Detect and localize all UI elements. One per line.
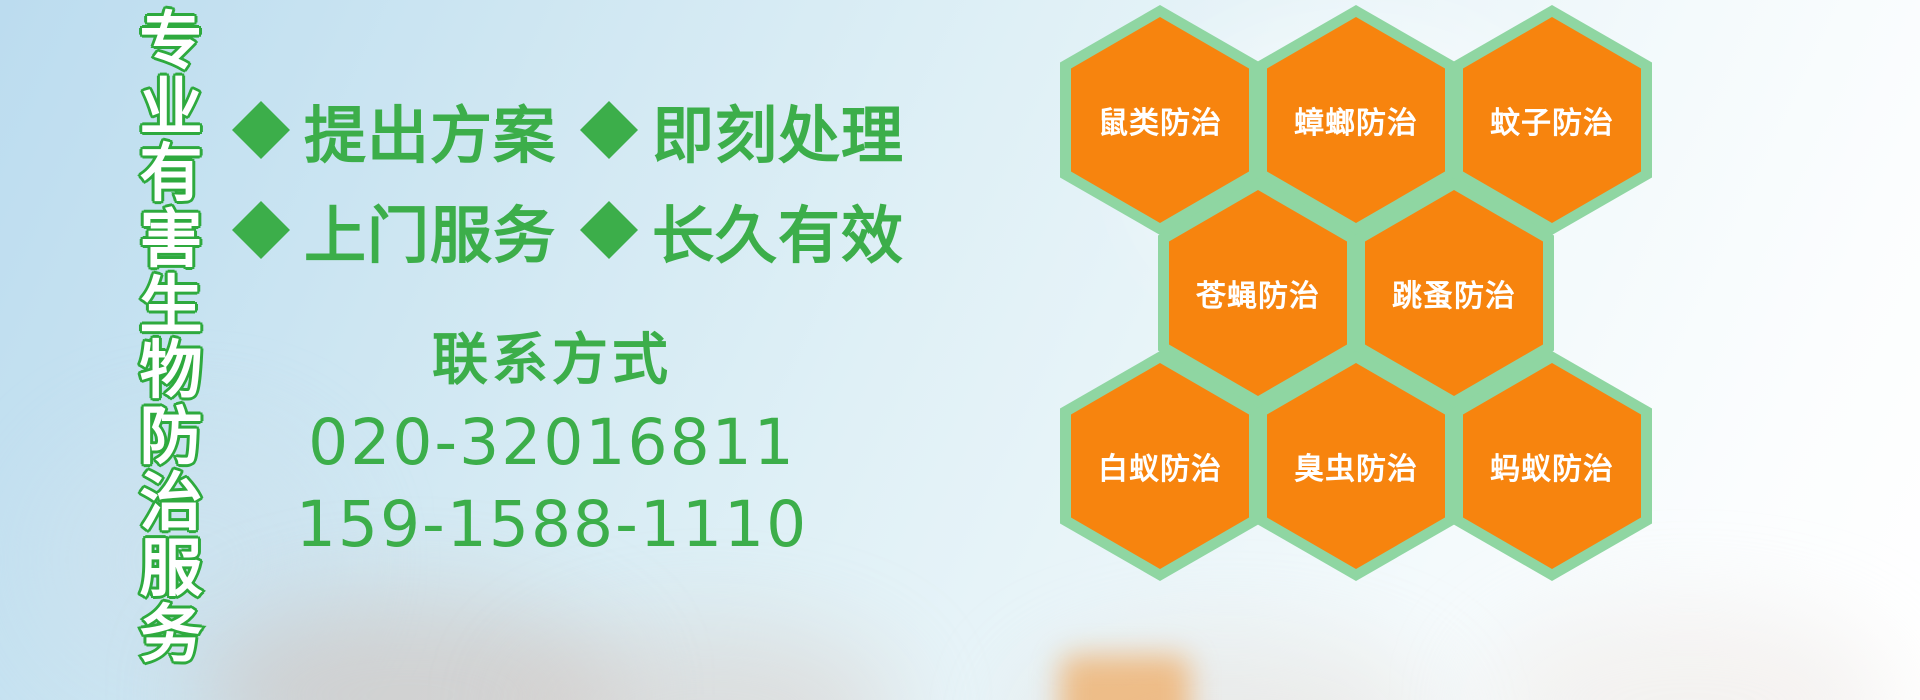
- service-label: 跳蚤防治: [1392, 271, 1516, 315]
- service-hex-termite[interactable]: 白蚁防治: [1060, 351, 1260, 581]
- vertical-headline-char: 防: [140, 405, 203, 470]
- vertical-headline-char: 务: [140, 603, 203, 668]
- service-hex-ant[interactable]: 蚂蚁防治: [1452, 351, 1652, 581]
- vertical-headline-char: 服: [140, 537, 203, 602]
- feature-label: 长久有效: [652, 185, 904, 275]
- vertical-headline-char: 专: [140, 10, 203, 75]
- feature-item: 上门服务: [232, 185, 556, 275]
- vertical-headline-char: 有: [140, 142, 203, 207]
- feature-row: 提出方案 即刻处理: [232, 80, 872, 180]
- diamond-icon: [232, 172, 290, 230]
- vertical-headline-char: 治: [140, 471, 203, 536]
- feature-item: 长久有效: [580, 185, 904, 275]
- service-label: 苍蝇防治: [1196, 271, 1320, 315]
- diamond-icon: [580, 72, 638, 130]
- background-blur-blob: [200, 600, 620, 700]
- service-label: 蟑螂防治: [1294, 98, 1418, 142]
- feature-list: 提出方案 即刻处理 上门服务 长久有效: [232, 80, 872, 280]
- feature-item: 即刻处理: [580, 85, 904, 175]
- background-blur-blob: [1480, 610, 1900, 700]
- service-label: 白蚁防治: [1098, 444, 1222, 488]
- pest-control-banner: 专 业 有 害 生 物 防 治 服 务 提出方案 即刻处理 上门服务: [0, 0, 1920, 700]
- service-label: 蚊子防治: [1490, 98, 1614, 142]
- diamond-icon: [580, 172, 638, 230]
- diamond-icon: [232, 72, 290, 130]
- service-label: 鼠类防治: [1098, 98, 1222, 142]
- vertical-headline-char: 业: [140, 76, 203, 141]
- background-orange-smudge: [1060, 655, 1190, 700]
- service-label: 蚂蚁防治: [1490, 444, 1614, 488]
- vertical-headline-char: 物: [140, 339, 203, 404]
- contact-title: 联系方式: [232, 315, 872, 396]
- service-hex-bedbug[interactable]: 臭虫防治: [1256, 351, 1456, 581]
- feature-label: 上门服务: [304, 185, 556, 275]
- vertical-headline-char: 生: [140, 274, 203, 339]
- vertical-headline-char: 害: [140, 208, 203, 273]
- service-honeycomb: 鼠类防治 蟑螂防治 蚊子防治 苍蝇防治 跳蚤防治: [1060, 0, 1660, 585]
- service-label: 臭虫防治: [1294, 444, 1418, 488]
- background-blur-blob: [520, 630, 900, 700]
- feature-row: 上门服务 长久有效: [232, 180, 872, 280]
- contact-phone-landline[interactable]: 020-32016811: [232, 402, 872, 484]
- contact-phone-mobile[interactable]: 159-1588-1110: [232, 484, 872, 566]
- contact-block: 联系方式 020-32016811 159-1588-1110: [232, 315, 872, 566]
- feature-item: 提出方案: [232, 85, 556, 175]
- feature-label: 提出方案: [304, 85, 556, 175]
- feature-label: 即刻处理: [652, 85, 904, 175]
- vertical-headline: 专 业 有 害 生 物 防 治 服 务: [128, 10, 214, 660]
